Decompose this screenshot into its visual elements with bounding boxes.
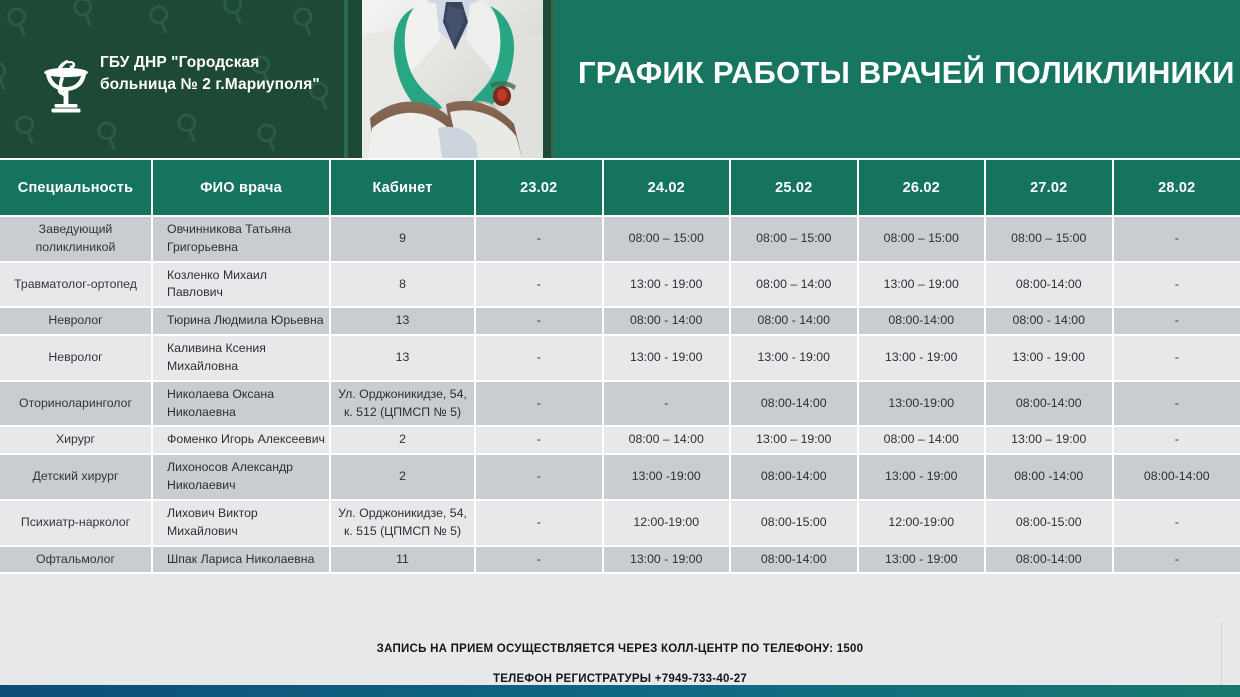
- table-row: Детский хирургЛихоносов Александр Никола…: [0, 454, 1240, 500]
- cell-day-23.02: -: [475, 216, 603, 262]
- cell-day-26.02: 13:00 - 19:00: [858, 546, 986, 574]
- cell-day-25.02: 08:00 – 14:00: [730, 262, 858, 308]
- cell-day-26.02: 13:00 - 19:00: [858, 454, 986, 500]
- column-header-day-23-02: 23.02: [475, 159, 603, 216]
- organization-name: ГБУ ДНР "Городская больница № 2 г.Мариуп…: [100, 52, 345, 96]
- cell-day-27.02: 08:00-14:00: [985, 546, 1113, 574]
- cell-day-25.02: 08:00 – 15:00: [730, 216, 858, 262]
- cell-doctor-name: Овчинникова Татьяна Григорьевна: [152, 216, 330, 262]
- cell-day-23.02: -: [475, 426, 603, 454]
- cell-day-28.02: -: [1113, 307, 1240, 335]
- cell-day-28.02: 08:00-14:00: [1113, 454, 1240, 500]
- cell-day-26.02: 08:00 – 14:00: [858, 426, 986, 454]
- doctors-schedule-table: Специальность ФИО врача Кабинет 23.02 24…: [0, 158, 1240, 574]
- cell-day-27.02: 08:00-14:00: [985, 381, 1113, 427]
- cell-specialty: Офтальмолог: [0, 546, 152, 574]
- column-header-doctor: ФИО врача: [152, 159, 330, 216]
- cell-day-26.02: 13:00-19:00: [858, 381, 986, 427]
- cell-day-25.02: 08:00-14:00: [730, 454, 858, 500]
- table-row: НеврологТюрина Людмила Юрьевна13-08:00 -…: [0, 307, 1240, 335]
- cell-room: 13: [330, 307, 475, 335]
- cell-room: 13: [330, 335, 475, 381]
- column-header-room: Кабинет: [330, 159, 475, 216]
- cell-specialty: Заведующий поликлиникой: [0, 216, 152, 262]
- cell-day-26.02: 08:00 – 15:00: [858, 216, 986, 262]
- column-header-day-25-02: 25.02: [730, 159, 858, 216]
- footer-right-divider: [1221, 623, 1222, 685]
- doctor-photo: [350, 0, 555, 158]
- cell-day-23.02: -: [475, 546, 603, 574]
- cell-day-24.02: 08:00 - 14:00: [603, 307, 731, 335]
- column-header-day-27-02: 27.02: [985, 159, 1113, 216]
- cell-day-24.02: 13:00 -19:00: [603, 454, 731, 500]
- cell-day-23.02: -: [475, 307, 603, 335]
- poster-footer: ЗАПИСЬ НА ПРИЕМ ОСУЩЕСТВЛЯЕТСЯ ЧЕРЕЗ КОЛ…: [0, 643, 1240, 685]
- bottom-accent-bar: [0, 685, 1240, 697]
- cell-doctor-name: Лихович Виктор Михайлович: [152, 500, 330, 546]
- table-row: НеврологКаливина Ксения Михайловна13-13:…: [0, 335, 1240, 381]
- table-row: ХирургФоменко Игорь Алексеевич2-08:00 – …: [0, 426, 1240, 454]
- organization-name-line1: ГБУ ДНР "Городская: [100, 52, 345, 74]
- column-header-day-24-02: 24.02: [603, 159, 731, 216]
- cell-day-27.02: 13:00 – 19:00: [985, 426, 1113, 454]
- cell-day-28.02: -: [1113, 262, 1240, 308]
- cell-day-27.02: 13:00 - 19:00: [985, 335, 1113, 381]
- cell-day-28.02: -: [1113, 216, 1240, 262]
- cell-day-27.02: 08:00 - 14:00: [985, 307, 1113, 335]
- cell-day-28.02: -: [1113, 426, 1240, 454]
- cell-day-23.02: -: [475, 381, 603, 427]
- cell-day-25.02: 08:00-14:00: [730, 546, 858, 574]
- header-divider-left: [344, 0, 348, 158]
- cell-day-23.02: -: [475, 262, 603, 308]
- cell-day-26.02: 13:00 – 19:00: [858, 262, 986, 308]
- column-header-specialty: Специальность: [0, 159, 152, 216]
- cell-day-27.02: 08:00-14:00: [985, 262, 1113, 308]
- table-row: ОториноларингологНиколаева Оксана Никола…: [0, 381, 1240, 427]
- cell-day-27.02: 08:00 – 15:00: [985, 216, 1113, 262]
- cell-day-27.02: 08:00 -14:00: [985, 454, 1113, 500]
- poster-header: ⚲ ⚲ ⚲ ⚲ ⚲ ⚲ ⚲ ⚲ ⚲ ⚲ ⚲ ⚲: [0, 0, 1240, 158]
- cell-doctor-name: Козленко Михаил Павлович: [152, 262, 330, 308]
- cell-day-28.02: -: [1113, 546, 1240, 574]
- cell-day-23.02: -: [475, 335, 603, 381]
- cell-day-24.02: 13:00 - 19:00: [603, 335, 731, 381]
- cell-specialty: Невролог: [0, 335, 152, 381]
- bowl-of-hygieia-icon: [38, 52, 94, 114]
- table-body: Заведующий поликлиникойОвчинникова Татья…: [0, 216, 1240, 573]
- table-header-row: Специальность ФИО врача Кабинет 23.02 24…: [0, 159, 1240, 216]
- cell-day-24.02: 13:00 - 19:00: [603, 546, 731, 574]
- cell-day-28.02: -: [1113, 381, 1240, 427]
- table-row: Травматолог-ортопедКозленко Михаил Павло…: [0, 262, 1240, 308]
- cell-day-26.02: 08:00-14:00: [858, 307, 986, 335]
- cell-room: 11: [330, 546, 475, 574]
- header-branding-panel: ⚲ ⚲ ⚲ ⚲ ⚲ ⚲ ⚲ ⚲ ⚲ ⚲ ⚲ ⚲: [0, 0, 350, 158]
- cell-day-26.02: 13:00 - 19:00: [858, 335, 986, 381]
- cell-doctor-name: Лихоносов Александр Николаевич: [152, 454, 330, 500]
- cell-room: Ул. Орджоникидзе, 54, к. 512 (ЦПМСП № 5): [330, 381, 475, 427]
- cell-specialty: Травматолог-ортопед: [0, 262, 152, 308]
- cell-day-24.02: -: [603, 381, 731, 427]
- cell-doctor-name: Каливина Ксения Михайловна: [152, 335, 330, 381]
- cell-day-28.02: -: [1113, 500, 1240, 546]
- cell-day-25.02: 13:00 – 19:00: [730, 426, 858, 454]
- cell-room: 8: [330, 262, 475, 308]
- page-title: ГРАФИК РАБОТЫ ВРАЧЕЙ ПОЛИКЛИНИКИ: [578, 57, 1218, 90]
- cell-day-24.02: 08:00 – 15:00: [603, 216, 731, 262]
- cell-doctor-name: Шпак Лариса Николаевна: [152, 546, 330, 574]
- cell-day-25.02: 08:00-15:00: [730, 500, 858, 546]
- column-header-day-26-02: 26.02: [858, 159, 986, 216]
- cell-specialty: Детский хирург: [0, 454, 152, 500]
- cell-specialty: Хирург: [0, 426, 152, 454]
- table-header: Специальность ФИО врача Кабинет 23.02 24…: [0, 159, 1240, 216]
- cell-day-24.02: 12:00-19:00: [603, 500, 731, 546]
- cell-specialty: Невролог: [0, 307, 152, 335]
- cell-room: Ул. Орджоникидзе, 54, к. 515 (ЦПМСП № 5): [330, 500, 475, 546]
- cell-room: 2: [330, 454, 475, 500]
- cell-room: 2: [330, 426, 475, 454]
- footer-callcenter-note: ЗАПИСЬ НА ПРИЕМ ОСУЩЕСТВЛЯЕТСЯ ЧЕРЕЗ КОЛ…: [0, 643, 1240, 655]
- cell-doctor-name: Тюрина Людмила Юрьевна: [152, 307, 330, 335]
- cell-doctor-name: Фоменко Игорь Алексеевич: [152, 426, 330, 454]
- cell-specialty: Психиатр-нарколог: [0, 500, 152, 546]
- footer-registry-phone: ТЕЛЕФОН РЕГИСТРАТУРЫ +7949-733-40-27: [0, 673, 1240, 685]
- cell-day-24.02: 13:00 - 19:00: [603, 262, 731, 308]
- organization-name-line2: больница № 2 г.Мариуполя": [100, 74, 345, 96]
- cell-specialty: Оториноларинголог: [0, 381, 152, 427]
- cell-day-27.02: 08:00-15:00: [985, 500, 1113, 546]
- schedule-poster: ⚲ ⚲ ⚲ ⚲ ⚲ ⚲ ⚲ ⚲ ⚲ ⚲ ⚲ ⚲: [0, 0, 1240, 697]
- cell-day-24.02: 08:00 – 14:00: [603, 426, 731, 454]
- cell-day-25.02: 08:00 - 14:00: [730, 307, 858, 335]
- cell-day-23.02: -: [475, 500, 603, 546]
- column-header-day-28-02: 28.02: [1113, 159, 1240, 216]
- cell-day-25.02: 08:00-14:00: [730, 381, 858, 427]
- cell-day-26.02: 12:00-19:00: [858, 500, 986, 546]
- cell-day-25.02: 13:00 - 19:00: [730, 335, 858, 381]
- cell-day-23.02: -: [475, 454, 603, 500]
- table-row: Психиатр-наркологЛихович Виктор Михайлов…: [0, 500, 1240, 546]
- cell-doctor-name: Николаева Оксана Николаевна: [152, 381, 330, 427]
- table-row: Заведующий поликлиникойОвчинникова Татья…: [0, 216, 1240, 262]
- table-row: ОфтальмологШпак Лариса Николаевна11-13:0…: [0, 546, 1240, 574]
- cell-room: 9: [330, 216, 475, 262]
- cell-day-28.02: -: [1113, 335, 1240, 381]
